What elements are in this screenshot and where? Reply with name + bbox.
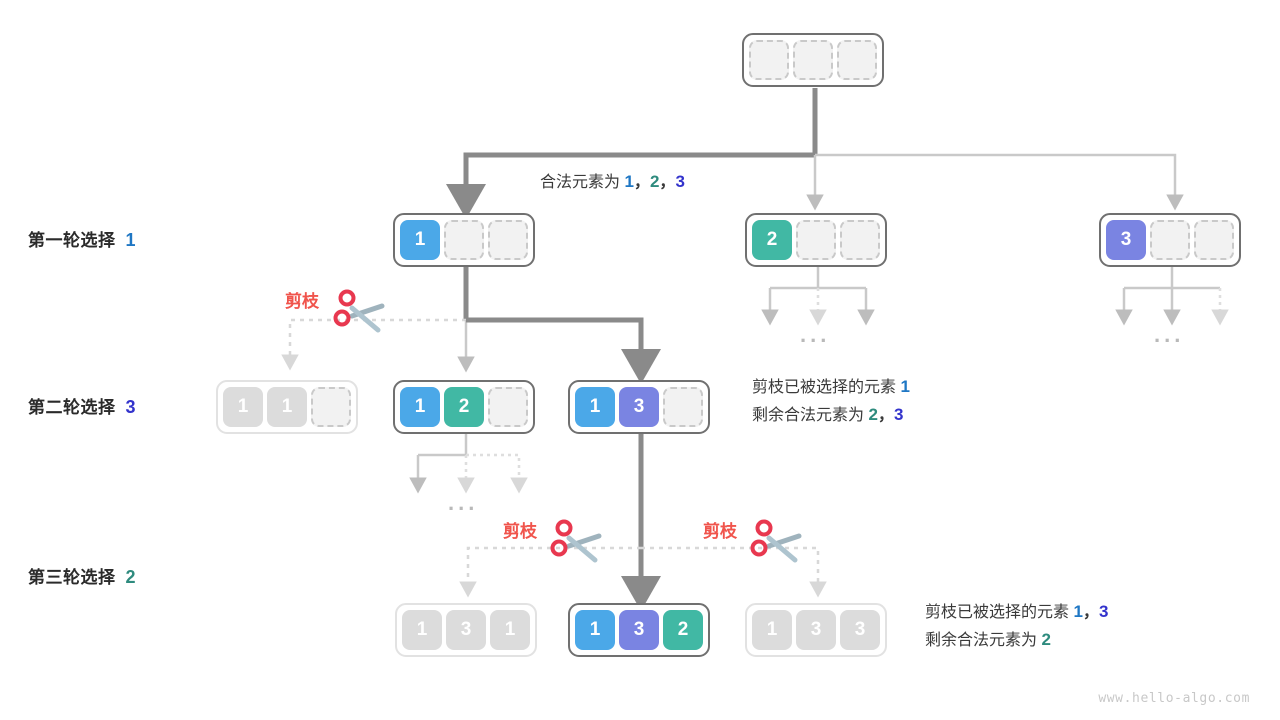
- node-level3-0[interactable]: 131: [395, 603, 537, 657]
- node-cell: 1: [575, 610, 615, 650]
- node-level3-2[interactable]: 133: [745, 603, 887, 657]
- node-cell: 1: [402, 610, 442, 650]
- ellipsis-3: ...: [448, 490, 478, 516]
- note-sep: ，: [634, 174, 650, 191]
- node-cell: [1150, 220, 1190, 260]
- node-level2-2[interactable]: 13: [568, 380, 710, 434]
- node-cell: 3: [1106, 220, 1146, 260]
- row-label-level1: 第一轮选择1: [28, 226, 136, 251]
- node-cell: 3: [840, 610, 880, 650]
- prune-label-2: 剪枝: [503, 517, 537, 542]
- row-label-level3-text: 第三轮选择: [28, 568, 116, 587]
- note-level2-line1-value-1: 1: [900, 377, 909, 396]
- node-cell: 2: [752, 220, 792, 260]
- row-label-level3: 第三轮选择2: [28, 563, 136, 588]
- note-level3: 剪枝已被选择的元素 1，3 剩余合法元素为 2: [925, 598, 1108, 654]
- note-level3-line2: 剩余合法元素为 2: [925, 626, 1108, 654]
- node-cell: 1: [575, 387, 615, 427]
- node-cell: [837, 40, 877, 80]
- node-cell: [488, 220, 528, 260]
- note-level3-line1-text: 剪枝已被选择的元素: [925, 604, 1069, 621]
- prune-label-3: 剪枝: [703, 517, 737, 542]
- note-level3-line1-value-2: 3: [1099, 602, 1108, 621]
- scissors-icon-1: [330, 288, 386, 336]
- row-label-level3-value: 2: [126, 567, 137, 587]
- node-cell: 3: [619, 610, 659, 650]
- note-level3-line1-value-1: 1: [1073, 602, 1082, 621]
- node-level2-1[interactable]: 12: [393, 380, 535, 434]
- note-sep: ，: [1083, 604, 1099, 621]
- note-level1-value-3: 3: [675, 172, 684, 191]
- note-level1-value-2: 2: [650, 172, 659, 191]
- note-level1: 合法元素为 1，2，3: [540, 168, 685, 196]
- node-cell: [444, 220, 484, 260]
- row-label-level1-text: 第一轮选择: [28, 231, 116, 250]
- note-level1-text: 合法元素为: [540, 174, 620, 191]
- row-label-level2-value: 3: [126, 397, 137, 417]
- node-cell: [1194, 220, 1234, 260]
- note-level3-line2-text: 剩余合法元素为: [925, 632, 1037, 649]
- node-level1-2[interactable]: 3: [1099, 213, 1241, 267]
- note-level2-line2-text: 剩余合法元素为: [752, 407, 864, 424]
- row-label-level2-text: 第二轮选择: [28, 398, 116, 417]
- note-level2-line2: 剩余合法元素为 2，3: [752, 401, 910, 429]
- scissors-icon-3: [747, 518, 803, 566]
- note-level3-line1: 剪枝已被选择的元素 1，3: [925, 598, 1108, 626]
- node-cell: [488, 387, 528, 427]
- node-cell: 3: [446, 610, 486, 650]
- node-cell: [311, 387, 351, 427]
- note-level1-value-1: 1: [624, 172, 633, 191]
- note-level3-line2-value-1: 2: [1041, 630, 1050, 649]
- node-cell: 1: [267, 387, 307, 427]
- row-label-level2: 第二轮选择3: [28, 393, 136, 418]
- node-cell: [796, 220, 836, 260]
- node-cell: 2: [444, 387, 484, 427]
- node-cell: 3: [619, 387, 659, 427]
- node-cell: [663, 387, 703, 427]
- row-label-level1-value: 1: [126, 230, 137, 250]
- ellipsis-2: ...: [1154, 322, 1184, 348]
- note-level2: 剪枝已被选择的元素 1 剩余合法元素为 2，3: [752, 373, 910, 429]
- note-sep: ，: [878, 407, 894, 424]
- node-cell: 1: [490, 610, 530, 650]
- scissors-icon-2: [547, 518, 603, 566]
- node-cell: 1: [400, 387, 440, 427]
- node-cell: 1: [400, 220, 440, 260]
- backtracking-pruning-diagram: 剪枝 剪枝 剪枝 第一轮选择1 第二轮选择3 第三轮选择2 合法元素为 1，2，…: [0, 0, 1280, 720]
- ellipsis-1: ...: [800, 322, 830, 348]
- node-level3-1[interactable]: 132: [568, 603, 710, 657]
- node-level1-1[interactable]: 2: [745, 213, 887, 267]
- node-cell: 1: [752, 610, 792, 650]
- node-level2-0[interactable]: 11: [216, 380, 358, 434]
- node-root[interactable]: [742, 33, 884, 87]
- node-level1-0[interactable]: 1: [393, 213, 535, 267]
- node-cell: [793, 40, 833, 80]
- note-level2-line2-value-1: 2: [868, 405, 877, 424]
- node-cell: [840, 220, 880, 260]
- node-cell: 3: [796, 610, 836, 650]
- note-level2-line1: 剪枝已被选择的元素 1: [752, 373, 910, 401]
- prune-label-1: 剪枝: [285, 287, 319, 312]
- node-cell: 2: [663, 610, 703, 650]
- node-cell: 1: [223, 387, 263, 427]
- note-sep: ，: [659, 174, 675, 191]
- note-level2-line2-value-2: 3: [894, 405, 903, 424]
- node-cell: [749, 40, 789, 80]
- note-level2-line1-text: 剪枝已被选择的元素: [752, 379, 896, 396]
- watermark: www.hello-algo.com: [1098, 691, 1250, 706]
